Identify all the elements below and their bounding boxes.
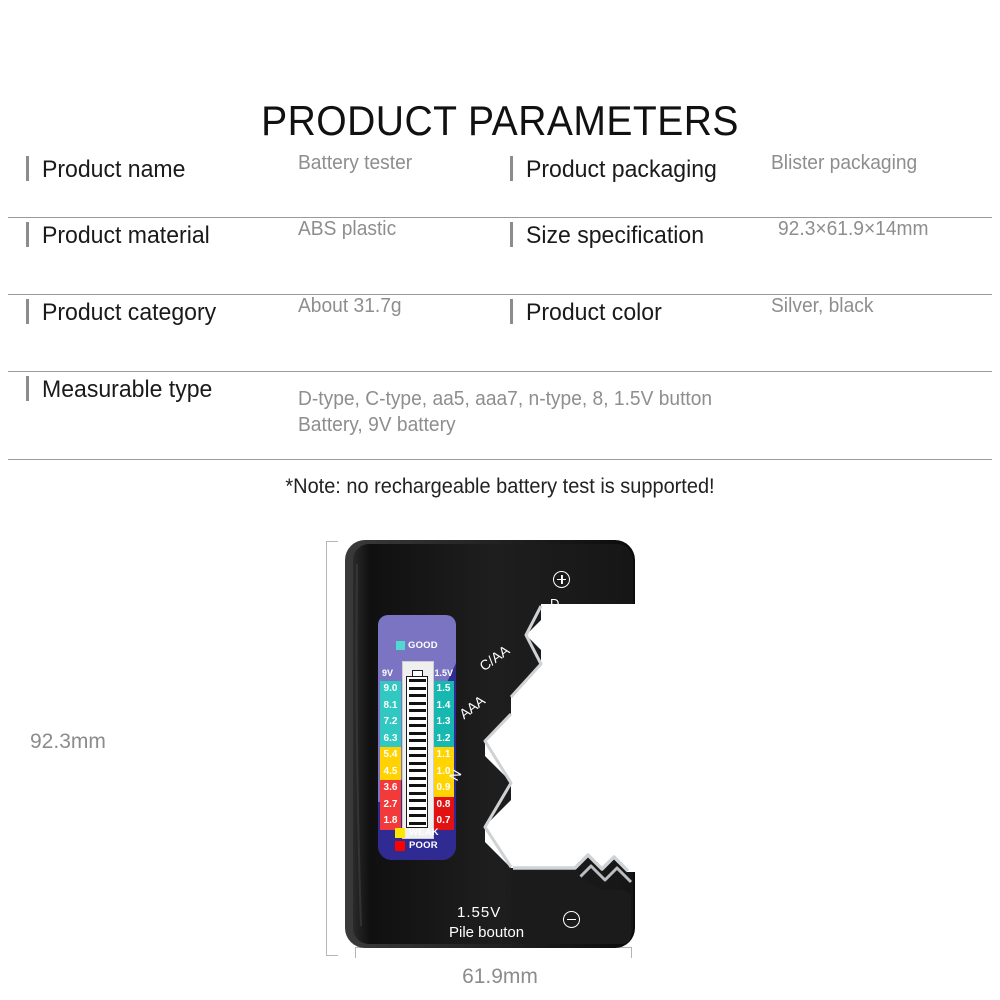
scale-segment: 5.4 <box>380 747 401 764</box>
button-cell-text-label: Pile bouton <box>449 924 524 941</box>
weak-label: WEAK <box>409 828 439 838</box>
table-row: Product name Battery tester Product pack… <box>8 152 992 218</box>
spec-cell-size-specification: Size specification 92.3×61.9×14mm <box>498 218 992 294</box>
spec-table: Product name Battery tester Product pack… <box>8 152 992 460</box>
scale-segment: 0.9 <box>433 780 454 797</box>
scale-segment: 6.3 <box>380 731 401 748</box>
scale-segment: 1.4 <box>433 698 454 715</box>
scale-segment: 1.1 <box>433 747 454 764</box>
weak-swatch-icon <box>395 828 405 838</box>
page-title: PRODUCT PARAMETERS <box>35 100 965 142</box>
battery-level-icon <box>406 676 428 828</box>
lcd-legend: WEAK POOR <box>395 825 439 851</box>
scale-segment: 1.2 <box>433 731 454 748</box>
spec-key: Product color <box>526 299 662 327</box>
lcd-legend-good: GOOD <box>396 641 438 651</box>
poor-swatch-icon <box>395 841 405 851</box>
lcd-legend-poor: POOR <box>395 841 439 851</box>
slot-label-d: D <box>550 596 559 611</box>
spec-value: 92.3×61.9×14mm <box>778 218 929 241</box>
lcd-left-header: 9V <box>382 668 393 678</box>
scale-segment: 3.6 <box>380 780 401 797</box>
dimension-label-width: 61.9mm <box>0 965 1000 989</box>
spec-key: Product material <box>42 222 210 250</box>
good-swatch-icon <box>396 641 405 650</box>
scale-segment: 0.8 <box>433 797 454 814</box>
spec-cell-product-category: Product category About 31.7g <box>8 295 498 371</box>
spec-key: Measurable type <box>42 376 212 404</box>
good-label: GOOD <box>408 641 438 651</box>
table-row: Product material ABS plastic Size specif… <box>8 218 992 295</box>
spec-value: Blister packaging <box>771 152 917 175</box>
minus-terminal-icon <box>563 911 580 928</box>
lcd-display: GOOD 9V 1.5V 9.0 8.1 7.2 6.3 5.4 4.5 3.6… <box>378 615 456 860</box>
spec-cell-product-name: Product name Battery tester <box>8 152 498 217</box>
row-marker-icon <box>510 299 513 324</box>
spec-value: D-type, C-type, aa5, aaa7, n-type, 8, 1.… <box>298 386 712 439</box>
button-cell-voltage-label: 1.55V <box>457 904 501 921</box>
lcd-scale-left: 9.0 8.1 7.2 6.3 5.4 4.5 3.6 2.7 1.8 <box>380 681 401 830</box>
battery-tester-device: GOOD 9V 1.5V 9.0 8.1 7.2 6.3 5.4 4.5 3.6… <box>345 538 635 950</box>
scale-segment: 7.2 <box>380 714 401 731</box>
spec-cell-product-color: Product color Silver, black <box>498 295 992 371</box>
table-row: Product category About 31.7g Product col… <box>8 295 992 372</box>
scale-segment: 9.0 <box>380 681 401 698</box>
spec-cell-product-material: Product material ABS plastic <box>8 218 498 294</box>
spec-key: Product packaging <box>526 156 717 184</box>
lcd-legend-weak: WEAK <box>395 828 439 838</box>
scale-segment: 1.5 <box>433 681 454 698</box>
spec-value: ABS plastic <box>298 218 396 241</box>
plus-terminal-icon <box>553 571 570 588</box>
scale-segment: 8.1 <box>380 698 401 715</box>
spec-value: Battery tester <box>298 152 412 175</box>
note-text: *Note: no rechargeable battery test is s… <box>25 475 975 499</box>
row-marker-icon <box>510 222 513 247</box>
spec-cell-measurable-type: Measurable type D-type, C-type, aa5, aaa… <box>8 372 498 459</box>
lcd-scale-right: 1.5 1.4 1.3 1.2 1.1 1.0 0.9 0.8 0.7 <box>433 681 454 830</box>
spec-value: About 31.7g <box>298 295 402 318</box>
scale-segment: 4.5 <box>380 764 401 781</box>
lcd-right-header: 1.5V <box>434 668 453 678</box>
table-row: Measurable type D-type, C-type, aa5, aaa… <box>8 372 992 460</box>
scale-segment: 1.3 <box>433 714 454 731</box>
dimension-bracket-height <box>326 541 338 956</box>
row-marker-icon <box>510 156 513 181</box>
spec-key: Size specification <box>526 222 704 250</box>
scale-segment: 2.7 <box>380 797 401 814</box>
dimension-label-height: 92.3mm <box>30 730 106 754</box>
spec-key: Product name <box>42 156 185 184</box>
row-marker-icon <box>26 299 29 324</box>
spec-value: Silver, black <box>771 295 873 318</box>
row-marker-icon <box>26 376 29 401</box>
row-marker-icon <box>26 156 29 181</box>
row-marker-icon <box>26 222 29 247</box>
spec-key: Product category <box>42 299 216 327</box>
spec-cell-product-packaging: Product packaging Blister packaging <box>498 152 992 217</box>
poor-label: POOR <box>409 841 438 851</box>
